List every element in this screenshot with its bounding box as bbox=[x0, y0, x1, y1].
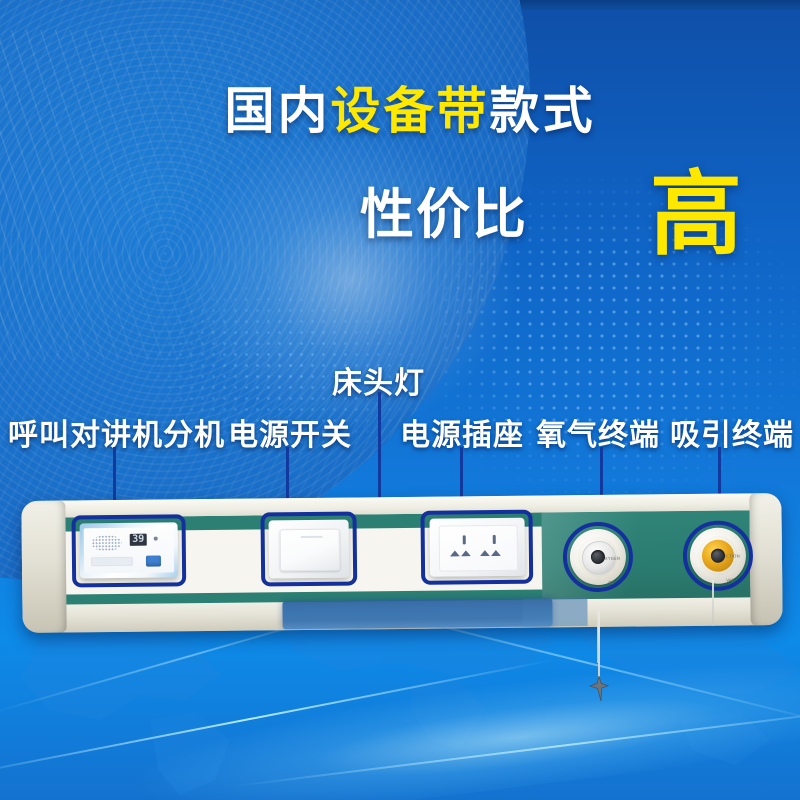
subheadline-block: 性价比 高 bbox=[0, 162, 800, 252]
highlight-box-intercom bbox=[71, 514, 186, 587]
headline-highlight: 设备带 bbox=[331, 82, 490, 140]
light-streak-1 bbox=[0, 659, 554, 779]
callout-label-suction: 吸引终端 bbox=[670, 410, 794, 454]
panel-end-cap-right bbox=[749, 493, 782, 625]
medical-bed-head-unit: 39 bbox=[22, 497, 782, 632]
panel-end-cap-left bbox=[21, 501, 66, 633]
headline-block: 国内设备带款式 bbox=[0, 82, 800, 140]
callout-label-power-switch: 电源开关 bbox=[228, 410, 352, 454]
bottom-light-beam bbox=[0, 636, 800, 800]
promo-banner: 国内设备带款式 性价比 高 呼叫对讲机分机 电源开关 床头灯 电源插座 氧气终端… bbox=[0, 0, 800, 800]
headline-part-2: 款式 bbox=[490, 82, 596, 140]
highlight-circle-suction bbox=[683, 520, 754, 591]
pull-cord-handle-icon[interactable] bbox=[588, 676, 610, 702]
suction-hose-cord bbox=[712, 580, 714, 626]
accent-character: 高 bbox=[650, 140, 742, 273]
top-band bbox=[0, 0, 800, 10]
rail-blue-reflection bbox=[282, 598, 552, 629]
highlight-box-switch bbox=[260, 511, 357, 586]
callout-label-oxygen: 氧气终端 bbox=[536, 410, 660, 454]
callout-label-intercom: 呼叫对讲机分机 bbox=[8, 410, 225, 454]
rail-blue-reflection-2 bbox=[522, 598, 587, 627]
subheadline-text: 性价比 bbox=[360, 170, 528, 249]
panel-body: 39 bbox=[21, 493, 782, 633]
highlight-circle-oxygen bbox=[563, 522, 634, 593]
light-streak-2 bbox=[232, 705, 800, 787]
highlight-box-socket bbox=[420, 510, 533, 585]
headline-part-1: 国内 bbox=[225, 82, 331, 140]
headline-line-1: 国内设备带款式 bbox=[0, 82, 800, 140]
